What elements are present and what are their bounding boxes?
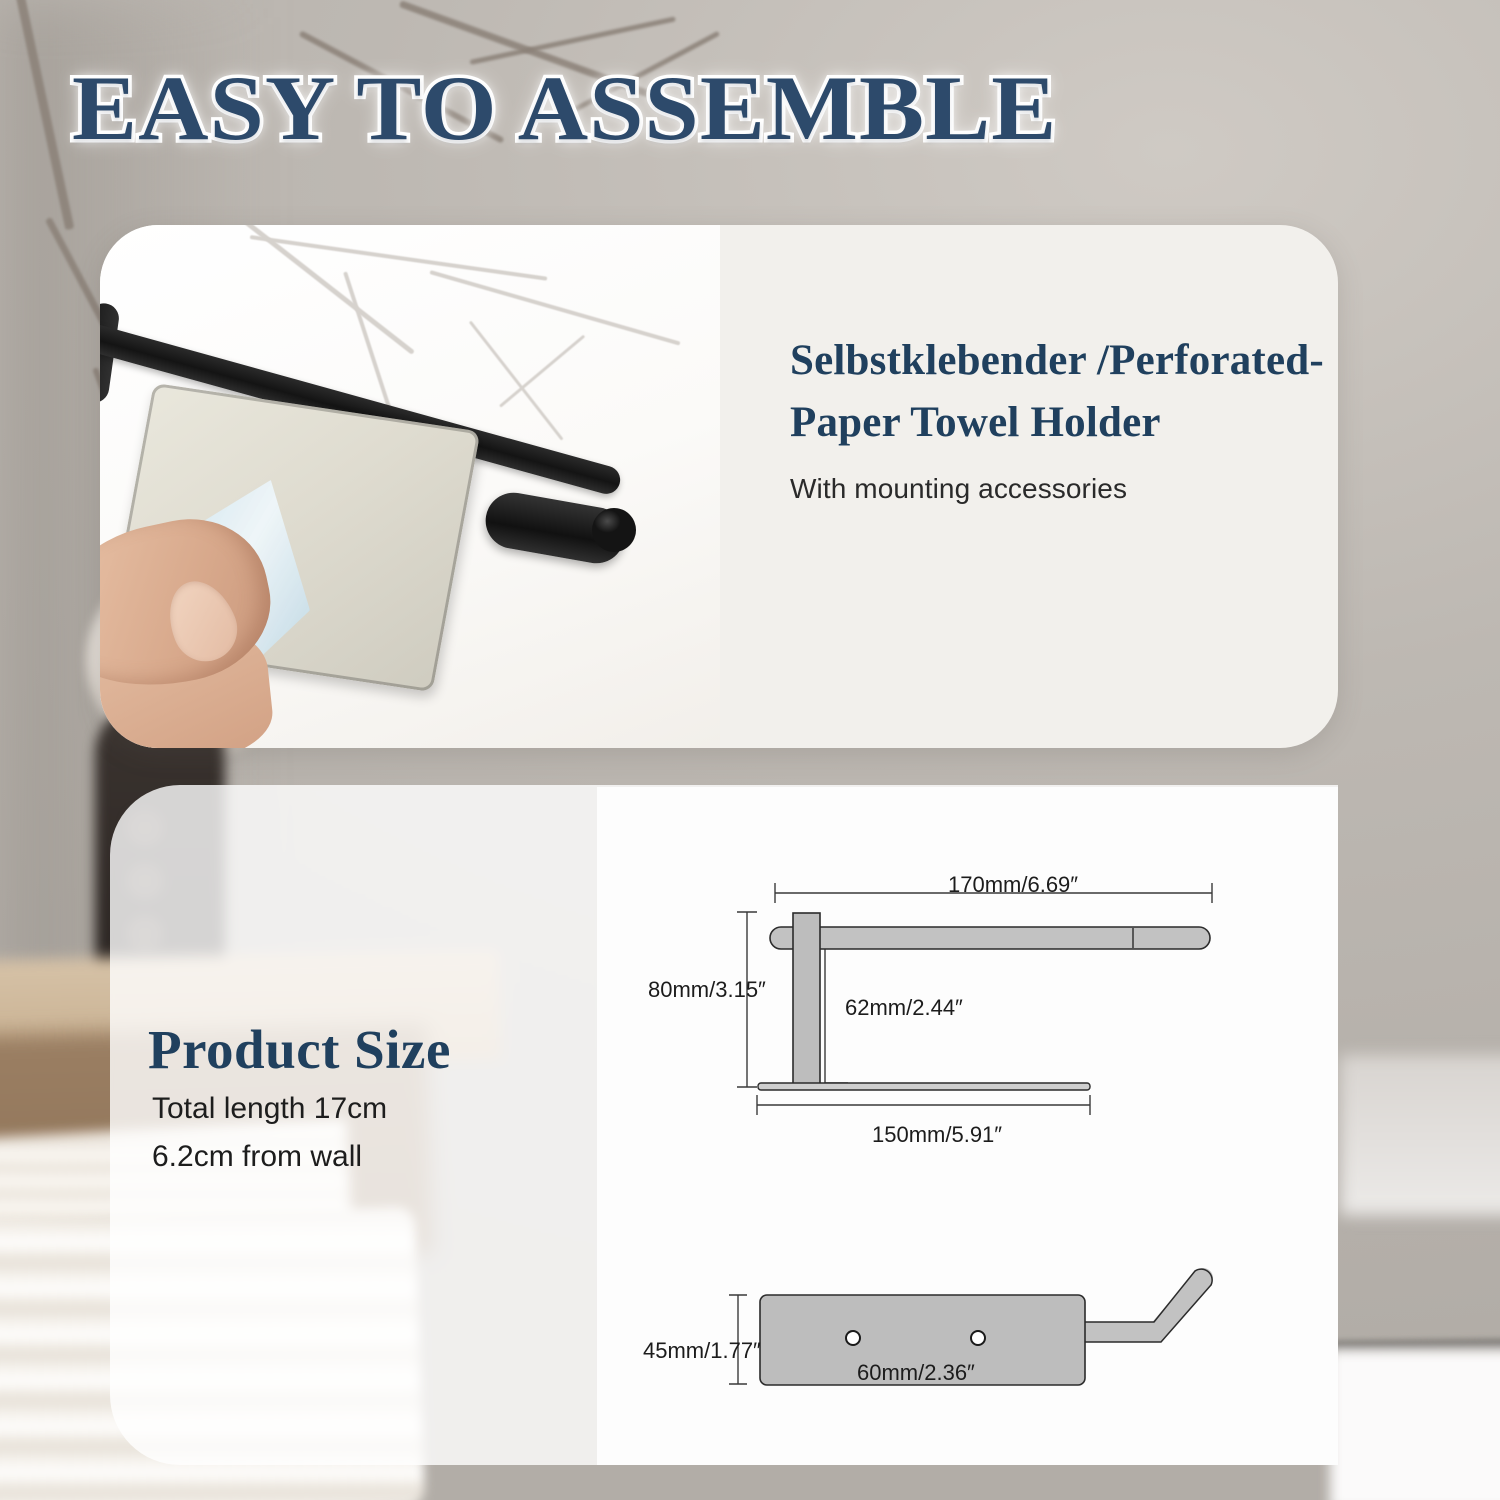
product-heading: Selbstklebender /Perforated-Paper Towel … [790,330,1335,455]
baseplate-shape [758,1083,1090,1090]
product-photo [100,225,720,748]
dimension-inner-height: 62mm/2.44″ [845,995,963,1021]
dimension-left-height: 80mm/3.15″ [648,977,766,1003]
dimension-top-width: 170mm/6.69″ [948,872,1078,898]
mounting-hole [971,1331,985,1345]
page-title: EASY TO ASSEMBLE [72,62,1057,154]
size-detail-line: 6.2cm from wall [152,1140,362,1174]
feature-card: Selbstklebender /Perforated-Paper Towel … [100,225,1338,748]
dimension-plate-height: 45mm/1.77″ [643,1338,761,1364]
size-detail-line: Total length 17cm [152,1092,387,1126]
dimension-hole-spacing: 60mm/2.36″ [857,1360,975,1386]
right-surface-white [1330,1350,1500,1500]
product-subheading: With mounting accessories [790,473,1127,505]
size-section-title: Product Size [148,1018,451,1081]
mounting-hole [846,1331,860,1345]
rod-shape [770,927,1210,949]
feature-text-block: Selbstklebender /Perforated-Paper Towel … [760,225,1338,748]
holder-end-cap [592,508,636,552]
dimension-bottom-width: 150mm/5.91″ [872,1122,1002,1148]
right-surface-top [1340,1055,1500,1215]
post-shape [793,913,820,1086]
